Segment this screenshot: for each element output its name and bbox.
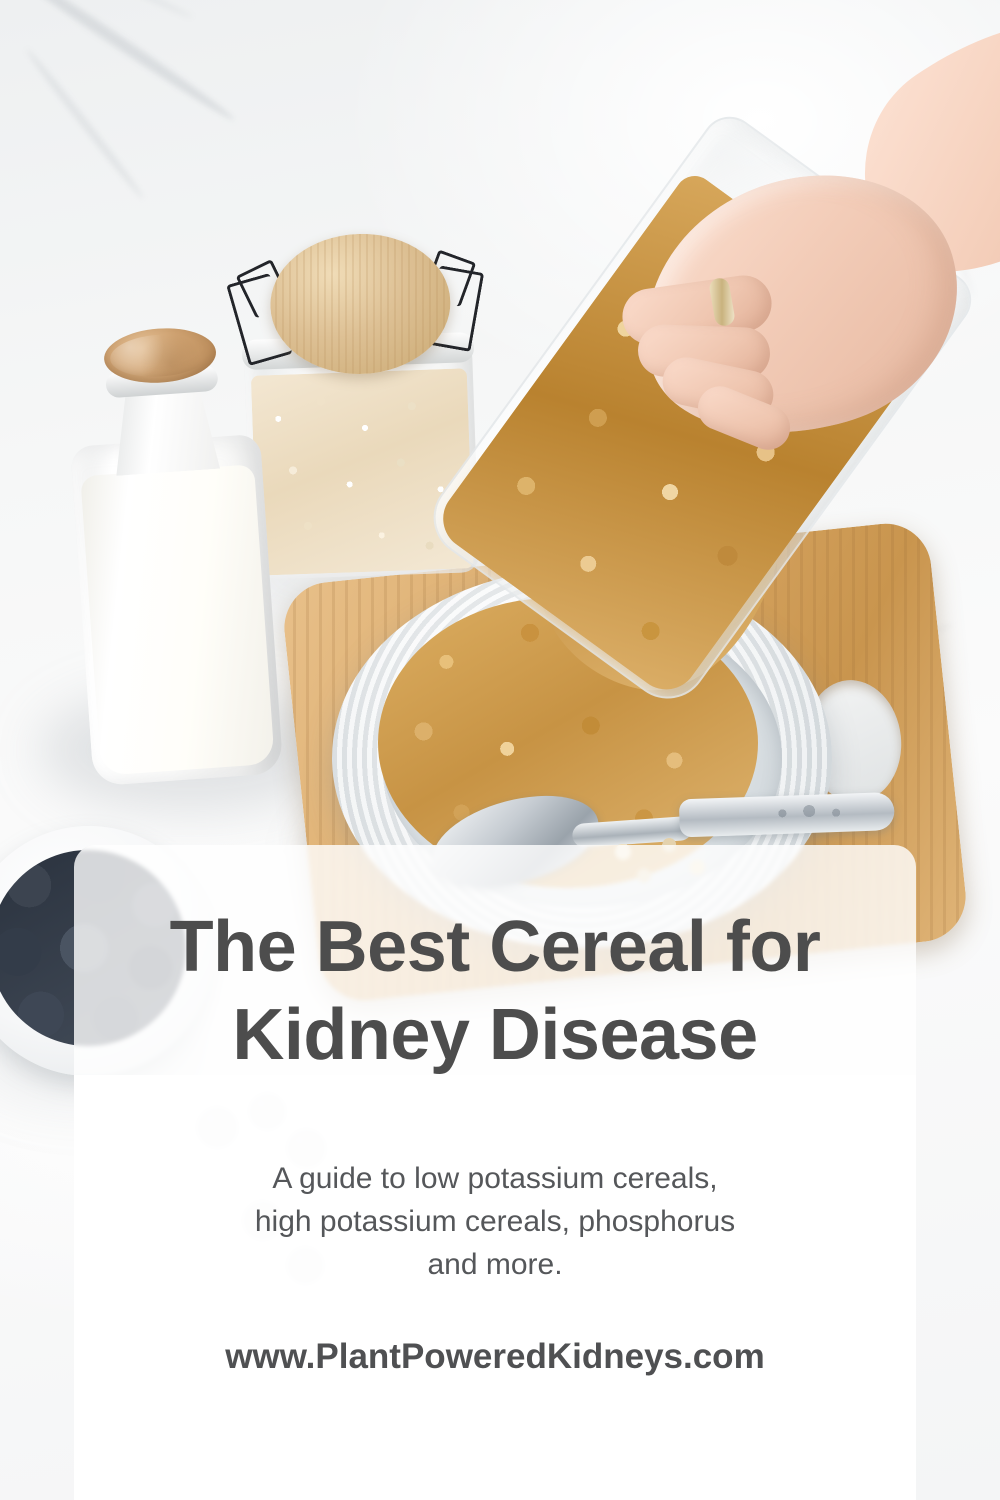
- website-url[interactable]: www.PlantPoweredKidneys.com: [74, 1337, 916, 1377]
- subtitle-line-1: A guide to low potassium cereals,: [134, 1157, 856, 1200]
- title-line-1: The Best Cereal for: [74, 903, 916, 991]
- title-line-2: Kidney Disease: [74, 991, 916, 1079]
- marble-vein: [23, 47, 146, 202]
- pinterest-pin-graphic: The Best Cereal for Kidney Disease A gui…: [0, 0, 1000, 1500]
- milk-bottle: [44, 313, 306, 798]
- spoon-ornament: [761, 798, 858, 827]
- subtitle-line-3: and more.: [134, 1243, 856, 1286]
- text-block: The Best Cereal for Kidney Disease A gui…: [74, 845, 916, 1500]
- milk: [80, 464, 275, 775]
- page-title: The Best Cereal for Kidney Disease: [74, 903, 916, 1079]
- hand: [600, 60, 1000, 500]
- subtitle: A guide to low potassium cereals, high p…: [134, 1157, 856, 1286]
- subtitle-line-2: high potassium cereals, phosphorus: [134, 1200, 856, 1243]
